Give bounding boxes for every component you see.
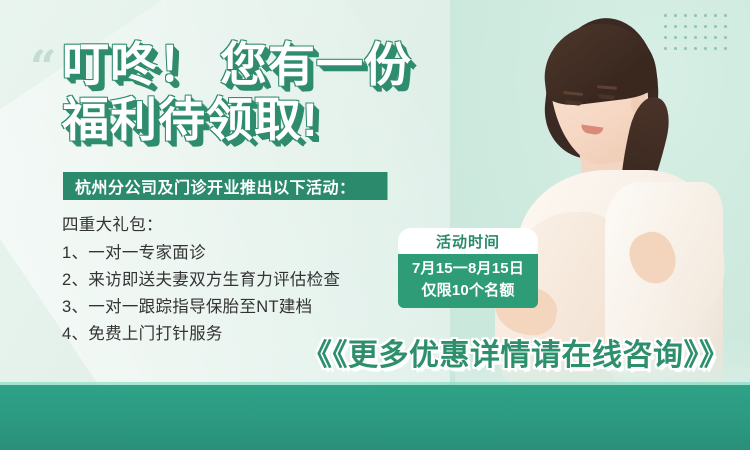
quotation-mark-icon: “ bbox=[30, 44, 54, 90]
badge-body: 7月15一8月15日 仅限10个名额 bbox=[398, 254, 538, 308]
bottom-bar bbox=[0, 385, 750, 450]
banner-notch-shape bbox=[368, 172, 384, 200]
list-item: 4、免费上门打针服务 bbox=[62, 321, 340, 348]
headline-line-2: 福利待领取! bbox=[62, 93, 492, 148]
offers-heading: 四重大礼包： bbox=[62, 212, 340, 239]
headline-line-1: 叮咚！ 您有一份 bbox=[62, 38, 492, 93]
badge-date-range: 7月15一8月15日 bbox=[398, 258, 538, 280]
list-item: 2、来访即送夫妻双方生育力评估检查 bbox=[62, 267, 340, 294]
badge-header: 活动时间 bbox=[398, 228, 538, 254]
badge-quota: 仅限10个名额 bbox=[398, 280, 538, 302]
headline: 叮咚！ 您有一份 福利待领取! bbox=[62, 38, 492, 148]
bottom-bar-top-edge bbox=[0, 382, 750, 385]
subtitle-banner-text: 杭州分公司及门诊开业推出以下活动： bbox=[75, 174, 356, 198]
online-consult-cta[interactable]: 《《更多优惠详情请在线咨询》》 bbox=[302, 330, 730, 374]
dot-grid-decoration bbox=[664, 14, 734, 58]
list-item: 3、一对一跟踪指导保胎至NT建档 bbox=[62, 294, 340, 321]
offers-list: 四重大礼包： 1、一对一专家面诊 2、来访即送夫妻双方生育力评估检查 3、一对一… bbox=[62, 212, 340, 348]
activity-time-badge: 活动时间 7月15一8月15日 仅限10个名额 bbox=[398, 228, 538, 308]
promo-banner: “ 叮咚！ 您有一份 福利待领取! 杭州分公司及门诊开业推出以下活动： 四重大礼… bbox=[0, 0, 750, 450]
list-item: 1、一对一专家面诊 bbox=[62, 240, 340, 267]
subtitle-banner: 杭州分公司及门诊开业推出以下活动： bbox=[63, 172, 388, 200]
